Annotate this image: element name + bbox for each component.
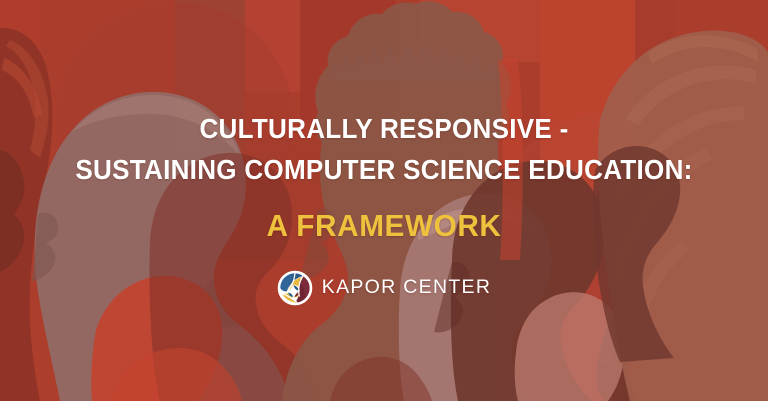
kapor-center-circular-logo-icon: [277, 270, 313, 306]
kapor-center-logo-lockup[interactable]: KAPOR CENTER: [0, 270, 768, 306]
kapor-center-wordmark: KAPOR CENTER: [322, 278, 491, 298]
title-card-banner: CULTURALLY RESPONSIVE - SUSTAINING COMPU…: [0, 0, 768, 401]
headline-line-1: CULTURALLY RESPONSIVE -: [27, 108, 741, 149]
title-text-block: CULTURALLY RESPONSIVE - SUSTAINING COMPU…: [0, 108, 768, 243]
subtitle: A FRAMEWORK: [15, 209, 752, 243]
headline-line-2: SUSTAINING COMPUTER SCIENCE EDUCATION:: [27, 149, 741, 190]
